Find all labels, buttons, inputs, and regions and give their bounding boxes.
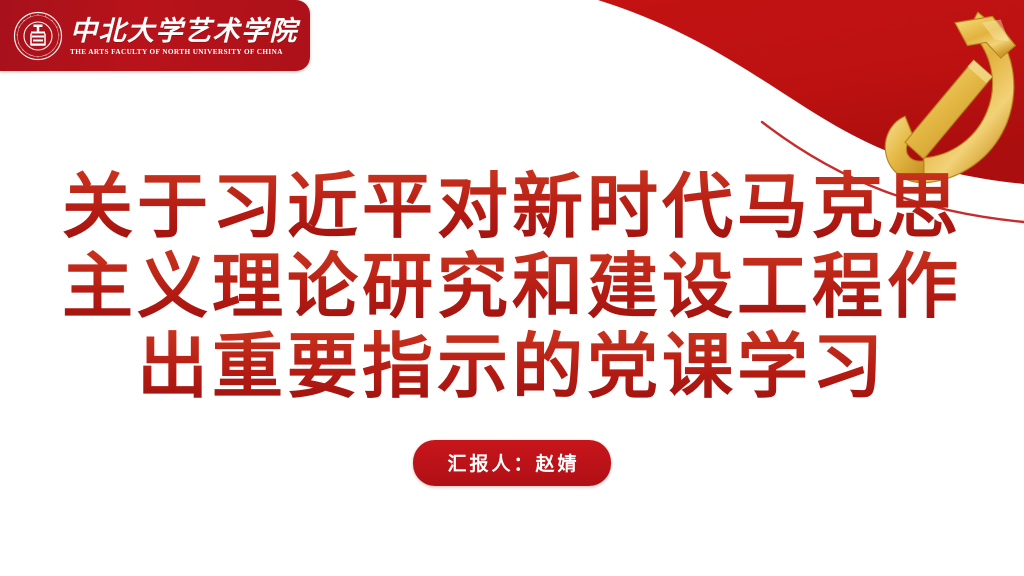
title-line-3: 出重要指示的党课学习 bbox=[0, 328, 1024, 408]
title-line-1: 关于习近平对新时代马克思 bbox=[0, 168, 1024, 248]
slide-canvas: 中北大学艺术学院 THE ARTS FACULTY OF NORTH UNIVE… bbox=[0, 0, 1024, 576]
slide-title: 关于习近平对新时代马克思 主义理论研究和建设工程作 出重要指示的党课学习 bbox=[0, 168, 1024, 408]
school-logo-text: 中北大学艺术学院 THE ARTS FACULTY OF NORTH UNIVE… bbox=[70, 15, 298, 57]
school-seal-emblem bbox=[13, 11, 63, 61]
school-name-en: THE ARTS FACULTY OF NORTH UNIVERSITY OF … bbox=[70, 49, 298, 56]
presenter-badge: 汇报人：赵婧 bbox=[413, 440, 610, 486]
hammer-and-sickle-emblem bbox=[885, 12, 1015, 183]
school-logo-bar: 中北大学艺术学院 THE ARTS FACULTY OF NORTH UNIVE… bbox=[0, 0, 310, 71]
school-name-cn: 中北大学艺术学院 bbox=[70, 17, 298, 45]
banner-shape bbox=[598, 0, 1024, 184]
title-line-2: 主义理论研究和建设工程作 bbox=[0, 248, 1024, 328]
presenter-area: 汇报人：赵婧 bbox=[0, 440, 1024, 486]
